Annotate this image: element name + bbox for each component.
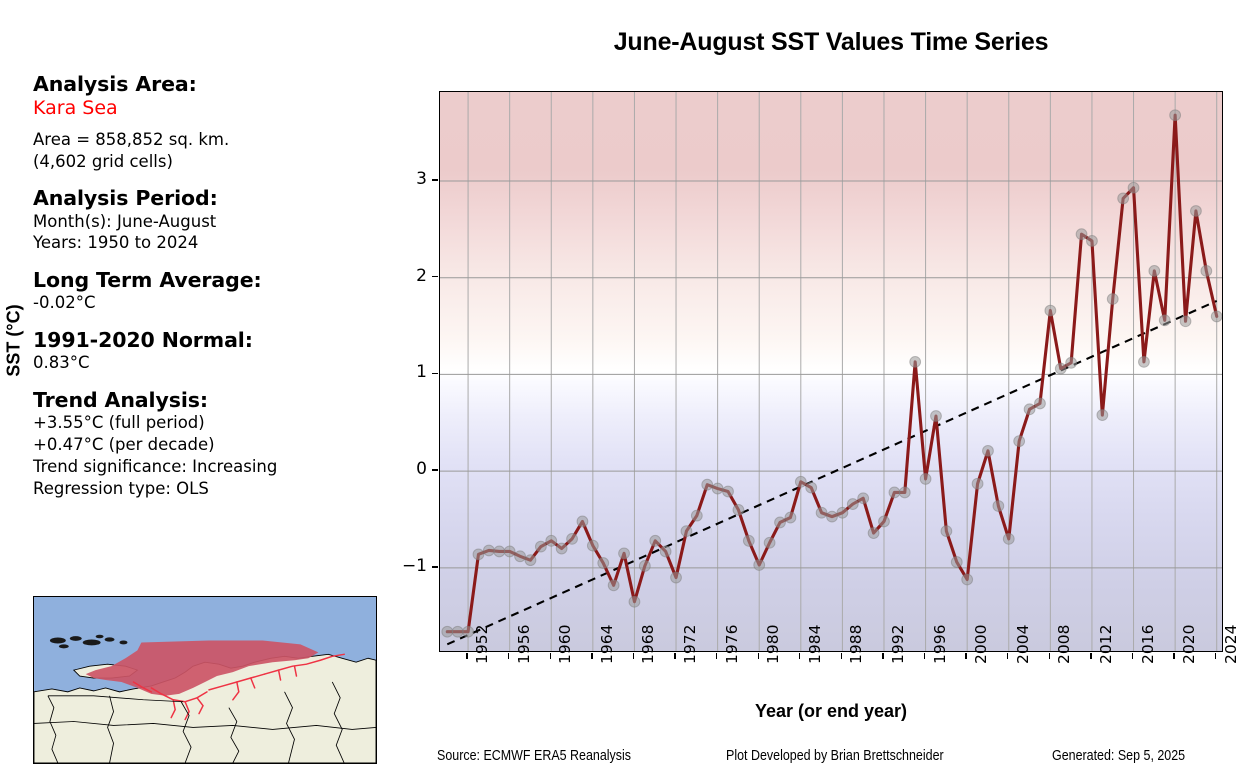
x-axis-tick-label: 1952 bbox=[473, 625, 491, 664]
x-axis-tick-mark bbox=[591, 653, 592, 659]
y-axis-tick-mark bbox=[432, 276, 438, 277]
y-axis-tick-label: 3 bbox=[387, 169, 427, 189]
y-axis-tick-label: 0 bbox=[387, 459, 427, 479]
x-axis-tick-label: 1992 bbox=[889, 625, 907, 664]
x-axis-tick-mark bbox=[1173, 653, 1174, 659]
x-axis-tick-label: 2020 bbox=[1180, 625, 1198, 664]
x-axis-tick-label: 1964 bbox=[598, 625, 616, 664]
x-axis-tick-mark bbox=[1007, 653, 1008, 659]
x-axis-tick-mark bbox=[1090, 653, 1091, 659]
x-axis-tick-mark bbox=[550, 653, 551, 659]
y-axis-tick-label: −1 bbox=[387, 556, 427, 576]
footer-source: Source: ECMWF ERA5 Reanalysis bbox=[437, 748, 631, 764]
x-axis-tick-label: 1968 bbox=[639, 625, 657, 664]
chart-axes-layer: −101231952195619601964196819721976198019… bbox=[0, 0, 1250, 780]
y-axis-tick-mark bbox=[432, 373, 438, 374]
x-axis-tick-mark bbox=[508, 653, 509, 659]
x-axis-tick-label: 1988 bbox=[847, 625, 865, 664]
x-axis-tick-mark bbox=[965, 653, 966, 659]
x-axis-tick-mark bbox=[758, 653, 759, 659]
x-axis-tick-label: 1984 bbox=[806, 625, 824, 664]
x-axis-tick-mark bbox=[924, 653, 925, 659]
footer-author: Plot Developed by Brian Brettschneider bbox=[726, 748, 944, 764]
x-axis-tick-label: 2016 bbox=[1139, 625, 1157, 664]
x-axis-tick-mark bbox=[1132, 653, 1133, 659]
x-axis-tick-mark bbox=[466, 653, 467, 659]
x-axis-label: Year (or end year) bbox=[439, 701, 1223, 722]
y-axis-tick-mark bbox=[432, 566, 438, 567]
x-axis-tick-label: 2000 bbox=[972, 625, 990, 664]
x-axis-tick-label: 1956 bbox=[515, 625, 533, 664]
y-axis-tick-label: 1 bbox=[387, 362, 427, 382]
x-axis-tick-label: 1980 bbox=[764, 625, 782, 664]
footer-generated: Generated: Sep 5, 2025 bbox=[1052, 748, 1185, 764]
x-axis-tick-mark bbox=[1049, 653, 1050, 659]
x-axis-tick-label: 1976 bbox=[723, 625, 741, 664]
x-axis-tick-label: 2012 bbox=[1097, 625, 1115, 664]
x-axis-tick-mark bbox=[882, 653, 883, 659]
x-axis-tick-mark bbox=[716, 653, 717, 659]
x-axis-tick-mark bbox=[674, 653, 675, 659]
x-axis-tick-mark bbox=[633, 653, 634, 659]
x-axis-tick-mark bbox=[1215, 653, 1216, 659]
x-axis-tick-label: 2008 bbox=[1055, 625, 1073, 664]
x-axis-tick-label: 2024 bbox=[1222, 625, 1240, 664]
x-axis-tick-label: 1960 bbox=[556, 625, 574, 664]
x-axis-tick-mark bbox=[841, 653, 842, 659]
x-axis-tick-mark bbox=[799, 653, 800, 659]
y-axis-label: SST (°C) bbox=[4, 304, 25, 376]
x-axis-tick-label: 1996 bbox=[931, 625, 949, 664]
y-axis-tick-mark bbox=[432, 469, 438, 470]
x-axis-tick-label: 2004 bbox=[1014, 625, 1032, 664]
y-axis-tick-mark bbox=[432, 179, 438, 180]
y-axis-tick-label: 2 bbox=[387, 266, 427, 286]
x-axis-tick-label: 1972 bbox=[681, 625, 699, 664]
